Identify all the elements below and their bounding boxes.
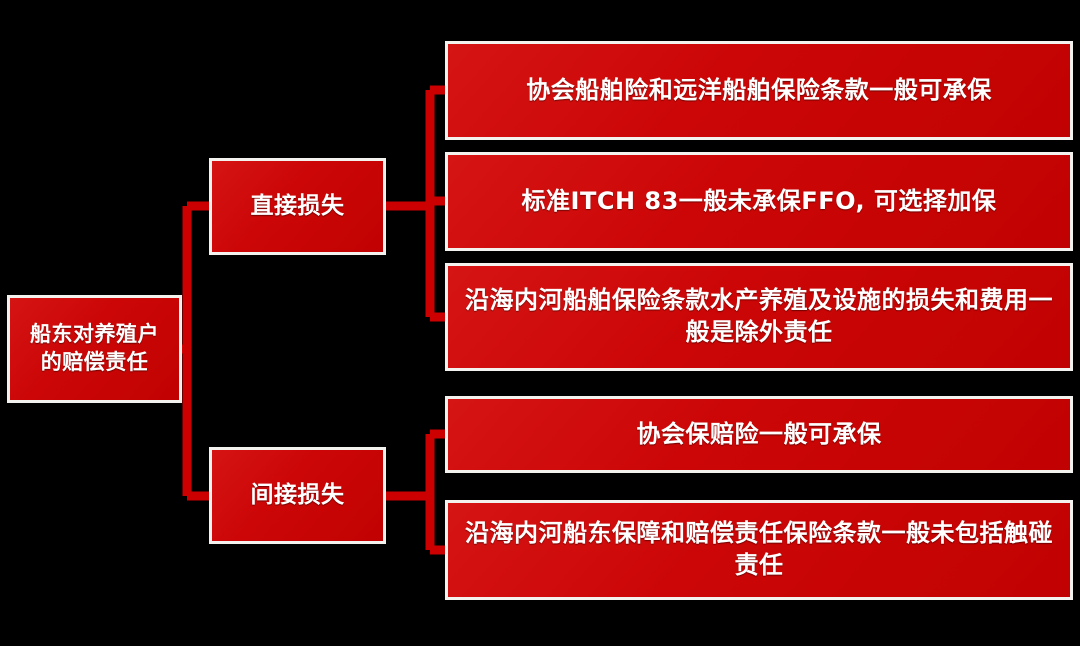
leaf-node-2[interactable]: 标准ITCH 83一般未承保FFO, 可选择加保: [445, 152, 1073, 251]
leaf-node-2-label: 标准ITCH 83一般未承保FFO, 可选择加保: [448, 186, 1070, 218]
leaf-node-3-label: 沿海内河船舶保险条款水产养殖及设施的损失和费用一般是除外责任: [448, 285, 1070, 348]
branch-node-direct-loss-label: 直接损失: [212, 191, 383, 221]
diagram-canvas: 船东对养殖户的赔偿责任 直接损失 间接损失 协会船舶险和远洋船舶保险条款一般可承…: [0, 0, 1080, 646]
branch-node-indirect-loss[interactable]: 间接损失: [209, 447, 386, 544]
root-node[interactable]: 船东对养殖户的赔偿责任: [7, 295, 182, 403]
branch-node-indirect-loss-label: 间接损失: [212, 480, 383, 510]
root-node-label: 船东对养殖户的赔偿责任: [10, 321, 179, 376]
leaf-node-4[interactable]: 协会保赔险一般可承保: [445, 396, 1073, 473]
leaf-node-4-label: 协会保赔险一般可承保: [448, 419, 1070, 451]
branch-node-direct-loss[interactable]: 直接损失: [209, 158, 386, 255]
leaf-node-5[interactable]: 沿海内河船东保障和赔偿责任保险条款一般未包括触碰责任: [445, 500, 1073, 600]
leaf-node-1-label: 协会船舶险和远洋船舶保险条款一般可承保: [448, 75, 1070, 107]
leaf-node-5-label: 沿海内河船东保障和赔偿责任保险条款一般未包括触碰责任: [448, 518, 1070, 581]
leaf-node-3[interactable]: 沿海内河船舶保险条款水产养殖及设施的损失和费用一般是除外责任: [445, 263, 1073, 371]
leaf-node-1[interactable]: 协会船舶险和远洋船舶保险条款一般可承保: [445, 41, 1073, 140]
